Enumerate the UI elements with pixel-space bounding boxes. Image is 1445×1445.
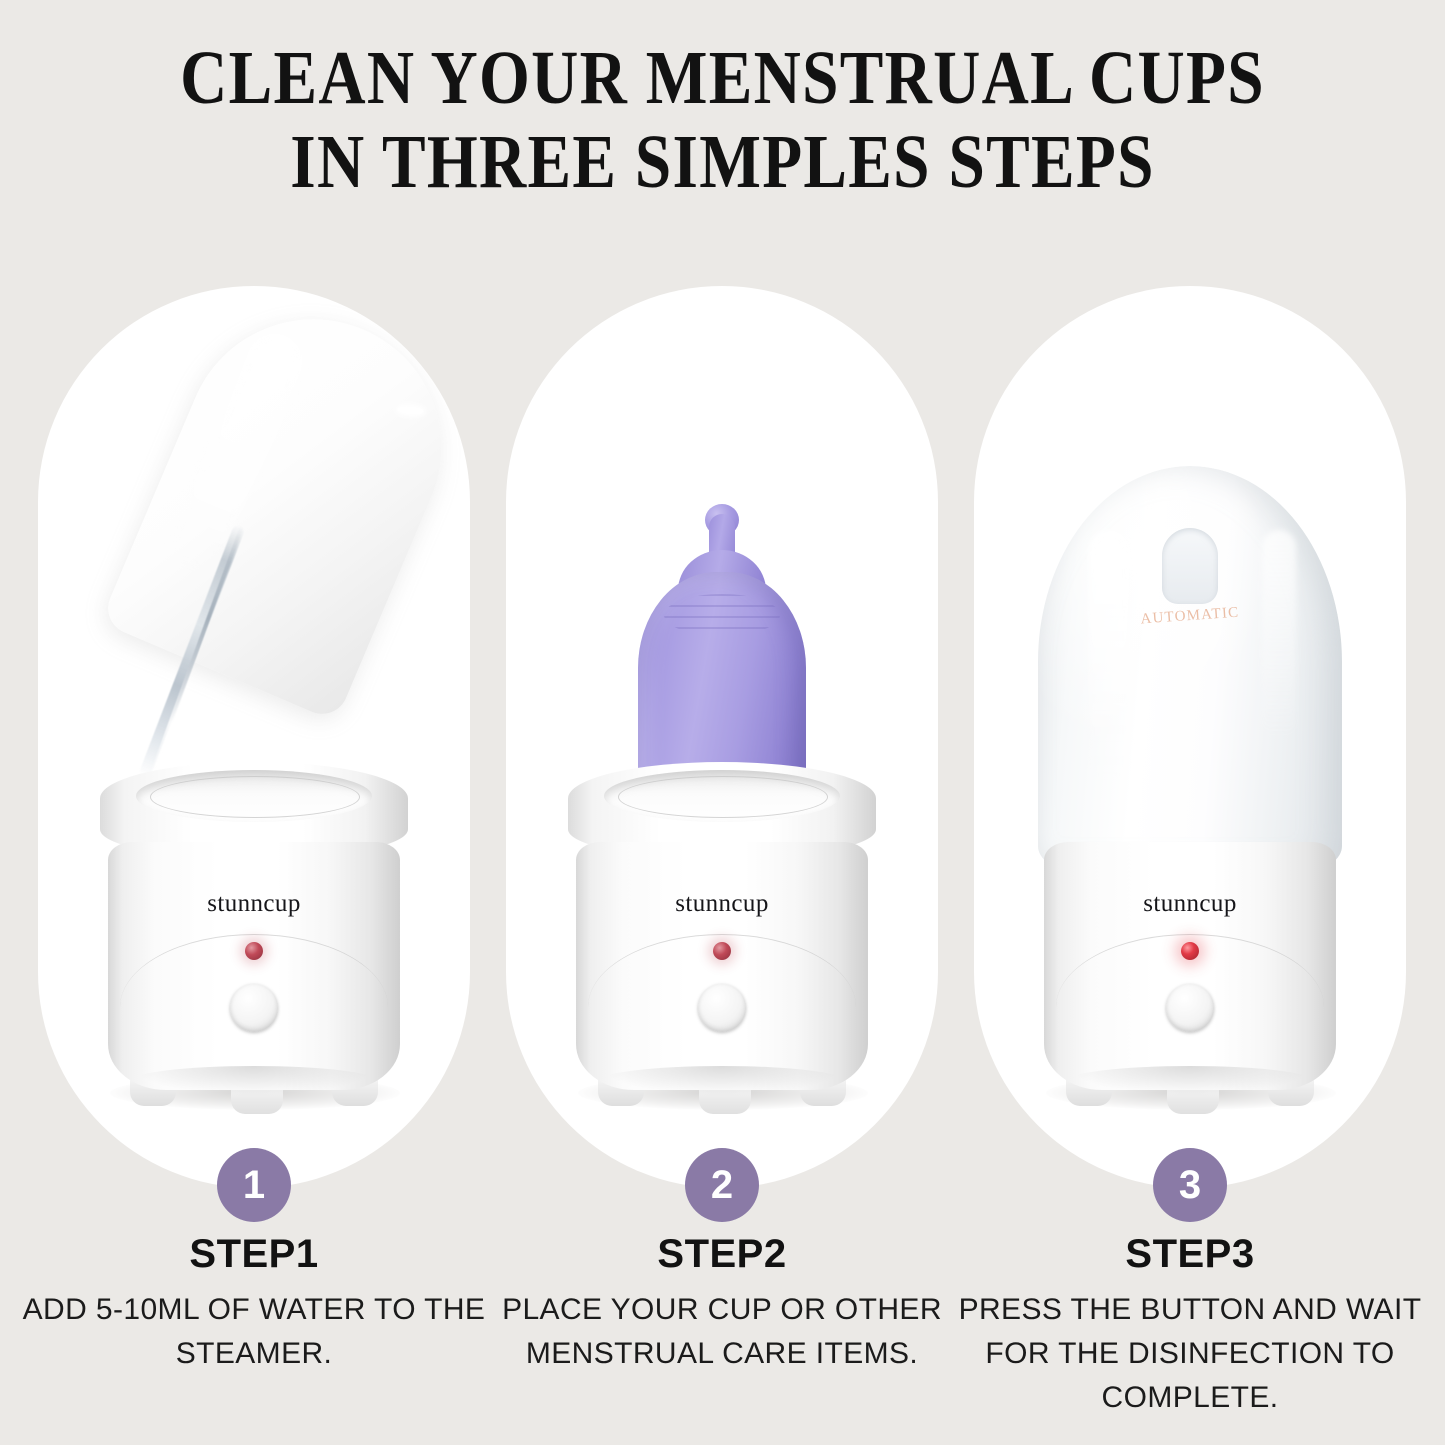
step-title-2: STEP2: [506, 1232, 938, 1277]
lid-highlight-right: [1262, 530, 1296, 740]
step-title-1: STEP1: [38, 1232, 470, 1277]
step-column-3: AUTOMATIC stunncup 3 STEP3 PRESS THE BUT…: [974, 0, 1406, 1445]
step-column-1: stunncup 1 STEP1 ADD 5-10ML OF WATER TO …: [38, 0, 470, 1445]
lid-vent-icon: [1162, 528, 1218, 604]
steamer-device-closed-lid: AUTOMATIC stunncup: [974, 286, 1406, 1188]
steamer-body: stunncup: [576, 842, 868, 1090]
step-2-image-card: stunncup: [506, 286, 938, 1188]
step-description-3: PRESS THE BUTTON AND WAIT FOR THE DISINF…: [956, 1288, 1424, 1420]
brand-logo: stunncup: [1044, 890, 1336, 918]
steamer-bowl-ring: [150, 776, 360, 818]
steamer-lid-closed: AUTOMATIC: [1038, 466, 1342, 870]
step-column-2: stunncup 2 STEP2 PLACE YOUR CUP OR OTHER…: [506, 0, 938, 1445]
power-led-indicator: [1181, 942, 1199, 960]
lid-automatic-label: AUTOMATIC: [1130, 604, 1251, 629]
step-badge-2: 2: [685, 1148, 759, 1222]
power-button[interactable]: [1166, 984, 1214, 1032]
steamer-bowl-ring: [618, 776, 828, 818]
steamer-body: stunncup: [1044, 842, 1336, 1090]
steps-container: stunncup 1 STEP1 ADD 5-10ML OF WATER TO …: [0, 0, 1445, 1445]
power-led-indicator: [245, 942, 263, 960]
step-badge-3: 3: [1153, 1148, 1227, 1222]
steamer-body: stunncup: [108, 842, 400, 1090]
steamer-device-with-cup: stunncup: [506, 286, 938, 1188]
power-button[interactable]: [230, 984, 278, 1032]
power-led-indicator: [713, 942, 731, 960]
steamer-lid-tilted: [100, 286, 470, 722]
menstrual-cup-grip-rings: [664, 594, 780, 636]
lid-glint-icon: [397, 405, 424, 415]
lid-highlight-left: [1088, 530, 1130, 780]
step-title-3: STEP3: [974, 1232, 1406, 1277]
steamer-device-open-lid: stunncup: [38, 286, 470, 1188]
step-description-1: ADD 5-10ML OF WATER TO THE STEAMER.: [20, 1288, 488, 1376]
brand-logo: stunncup: [576, 890, 868, 918]
step-badge-1: 1: [217, 1148, 291, 1222]
power-button[interactable]: [698, 984, 746, 1032]
step-description-2: PLACE YOUR CUP OR OTHER MENSTRUAL CARE I…: [488, 1288, 956, 1376]
step-3-image-card: AUTOMATIC stunncup: [974, 286, 1406, 1188]
brand-logo: stunncup: [108, 890, 400, 918]
step-1-image-card: stunncup: [38, 286, 470, 1188]
